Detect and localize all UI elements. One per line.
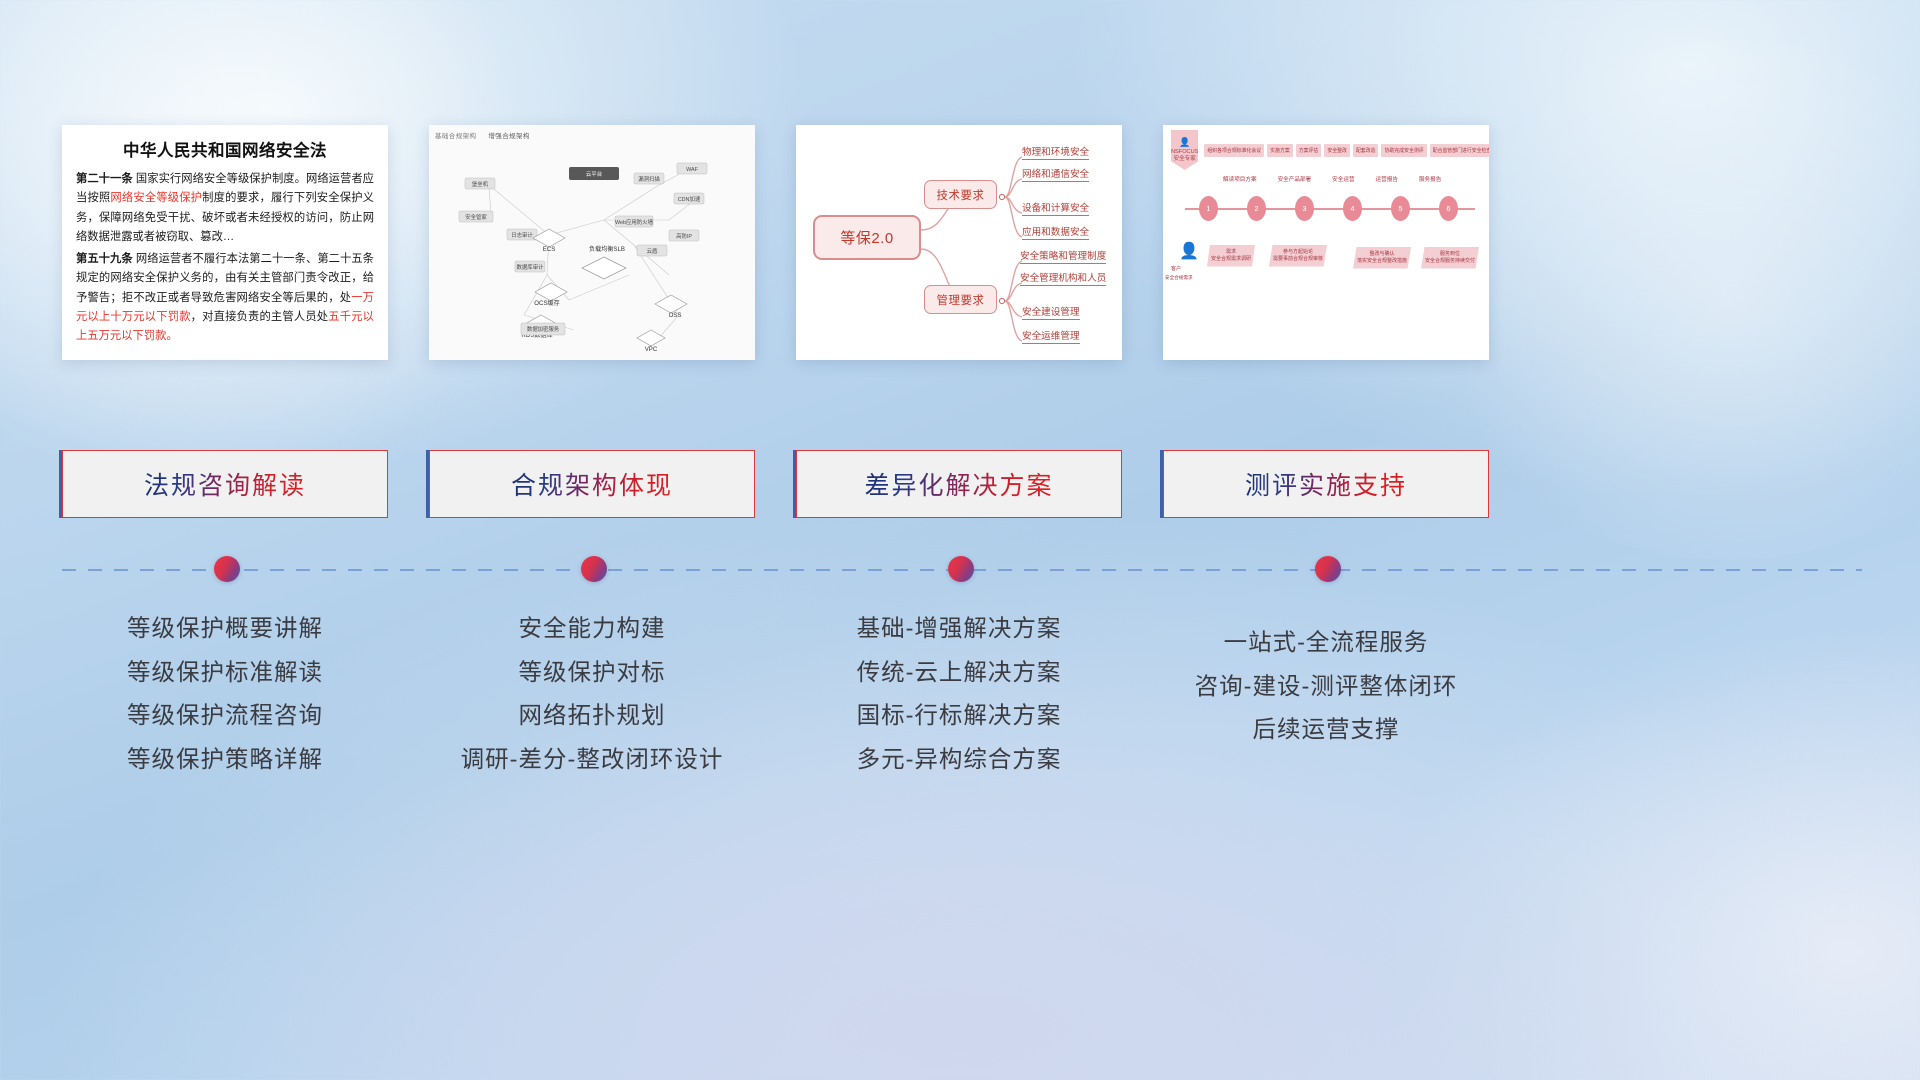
service-footer-pill-sub: 安全合规需求调研 <box>1211 256 1251 263</box>
list-item: 后续运营支撑 <box>1163 709 1489 753</box>
service-step-marker: 6 <box>1439 196 1458 221</box>
detail-list-differentiated-solution: 基础-增强解决方案 传统-云上解决方案 国标-行标解决方案 多元-异构综合方案 <box>796 608 1122 782</box>
list-item: 等级保护对标 <box>429 652 755 696</box>
service-chip: 配合监管部门进行安全检查 <box>1430 144 1489 157</box>
service-chip: 协助完成安全测评 <box>1381 144 1426 157</box>
svg-text:漏洞扫描: 漏洞扫描 <box>638 175 660 183</box>
detail-list-compliance-architecture: 安全能力构建 等级保护对标 网络拓扑规划 调研-差分-整改闭环设计 <box>429 608 755 782</box>
service-stage-label-row: 解读项目方案 安全产品部署 安全运营 运营报告 服务报告 <box>1223 175 1441 183</box>
mindmap-leaf: 安全策略和管理制度 <box>1020 251 1106 264</box>
service-timeline-header: 👤 NSFOCUS 安全专家 组织各项合规标准化会议 实施方案 方案评估 安全整… <box>1163 133 1489 167</box>
service-stage-label: 运营报告 <box>1376 175 1398 183</box>
headline-button-compliance-architecture[interactable]: 合规架构体现 <box>429 450 755 518</box>
nsfocus-expert-badge: 👤 NSFOCUS 安全专家 <box>1171 130 1198 170</box>
person-icon: 👤 <box>1179 136 1190 148</box>
mindmap-root-node: 等保2.0 <box>813 215 921 260</box>
svg-text:数据库审计: 数据库审计 <box>517 263 545 271</box>
mindmap-leaf: 物理和环境安全 <box>1022 147 1089 160</box>
architecture-diagram-svg: 云平台 堡垒机 安全管家 日志审计 <box>429 125 755 360</box>
law-run-highlight: 网络安全等级保护 <box>110 192 202 204</box>
headline-button-regulation-consulting[interactable]: 法规咨询解读 <box>62 450 388 518</box>
headline-button-assessment-support[interactable]: 测评实施支持 <box>1163 450 1489 518</box>
service-footer-pill: 整改与确认 落实安全合规整改措施 <box>1353 247 1411 269</box>
list-item: 安全能力构建 <box>429 608 755 652</box>
timeline-dot-4[interactable] <box>1315 556 1341 582</box>
mindmap-leaf: 设备和计算安全 <box>1022 203 1089 216</box>
law-article-paragraph: 第五十九条 网络运营者不履行本法第二十一条、第二十五条规定的网络安全保护义务的，… <box>76 250 374 347</box>
law-article-paragraph: 第二十一条 国家实行网络安全等级保护制度。网络运营者应当按照网络安全等级保护制度… <box>76 170 374 248</box>
headline-button-differentiated-solution[interactable]: 差异化解决方案 <box>796 450 1122 518</box>
headline-button-label: 差异化解决方案 <box>864 466 1053 502</box>
service-step-marker: 5 <box>1391 196 1410 221</box>
mindmap-leaf: 安全管理机构和人员 <box>1020 273 1106 286</box>
list-item: 等级保护流程咨询 <box>62 695 388 739</box>
preview-card-law-document[interactable]: 中华人民共和国网络安全法 第二十一条 国家实行网络安全等级保护制度。网络运营者应… <box>62 125 388 360</box>
svg-text:数据加密服务: 数据加密服务 <box>527 325 560 333</box>
service-chip: 实施方案 <box>1267 144 1293 157</box>
service-chip: 方案评估 <box>1296 144 1322 157</box>
service-footer-pill-title: 需求 <box>1211 249 1251 256</box>
list-item: 等级保护标准解读 <box>62 652 388 696</box>
mindmap-branch-technical: 技术要求 <box>924 180 997 209</box>
mindmap-branch-management: 管理要求 <box>924 285 997 314</box>
svg-text:高防IP: 高防IP <box>676 232 692 240</box>
customer-person-icon: 👤 <box>1179 241 1199 261</box>
list-item: 传统-云上解决方案 <box>796 652 1122 696</box>
svg-text:OCS缓存: OCS缓存 <box>534 299 559 307</box>
service-chip: 安全整改 <box>1324 144 1350 157</box>
list-item: 咨询-建设-测评整体闭环 <box>1163 666 1489 710</box>
customer-sublabel: 安全合规需求 <box>1165 275 1193 281</box>
list-item: 网络拓扑规划 <box>429 695 755 739</box>
headline-button-label: 合规架构体现 <box>511 466 673 502</box>
law-article-number: 第五十九条 <box>76 253 133 265</box>
detail-list-regulation-consulting: 等级保护概要讲解 等级保护标准解读 等级保护流程咨询 等级保护策略详解 <box>62 608 388 782</box>
service-footer-pill-title: 参与方起始论 <box>1273 249 1323 256</box>
service-step-marker: 4 <box>1343 196 1362 221</box>
service-chip: 配套改造 <box>1353 144 1379 157</box>
detail-list-assessment-support: 一站式-全流程服务 咨询-建设-测评整体闭环 后续运营支撑 <box>1163 608 1489 782</box>
svg-text:堡垒机: 堡垒机 <box>472 180 489 188</box>
svg-text:Web应用防火墙: Web应用防火墙 <box>615 218 654 226</box>
service-step-marker: 3 <box>1295 196 1314 221</box>
service-chip-list: 组织各项合规标准化会议 实施方案 方案评估 安全整改 配套改造 协助完成安全测评… <box>1204 144 1489 157</box>
timeline-dot-3[interactable] <box>948 556 974 582</box>
preview-card-service-timeline[interactable]: 👤 NSFOCUS 安全专家 组织各项合规标准化会议 实施方案 方案评估 安全整… <box>1163 125 1489 360</box>
svg-text:云盾: 云盾 <box>647 248 658 255</box>
service-step-marker: 2 <box>1247 196 1266 221</box>
slide-stage: 中华人民共和国网络安全法 第二十一条 国家实行网络安全等级保护制度。网络运营者应… <box>0 0 1920 1080</box>
headline-button-label: 测评实施支持 <box>1245 466 1407 502</box>
svg-text:OSS: OSS <box>669 312 682 319</box>
service-stage-label: 安全运营 <box>1332 175 1354 183</box>
customer-label: 客户 <box>1171 265 1181 272</box>
svg-text:VPC: VPC <box>645 346 658 353</box>
law-document-title: 中华人民共和国网络安全法 <box>76 137 374 161</box>
service-footer-pill: 需求 安全合规需求调研 <box>1207 245 1255 267</box>
svg-text:CDN加速: CDN加速 <box>678 195 701 203</box>
list-item: 等级保护策略详解 <box>62 739 388 783</box>
service-footer-pill: 服务到位 安全合规服务持续交付 <box>1421 247 1479 269</box>
service-chip: 组织各项合规标准化会议 <box>1204 144 1264 157</box>
mindmap-leaf: 安全运维管理 <box>1022 331 1080 344</box>
detail-list-row: 等级保护概要讲解 等级保护标准解读 等级保护流程咨询 等级保护策略详解 安全能力… <box>62 608 1862 782</box>
service-footer-left: 需求 安全合规需求调研 参与方起始论 需要事前合规合规审核 <box>1207 245 1327 267</box>
list-item: 调研-差分-整改闭环设计 <box>429 739 755 783</box>
list-item: 一站式-全流程服务 <box>1163 622 1489 666</box>
list-item: 等级保护概要讲解 <box>62 608 388 652</box>
svg-text:云平台: 云平台 <box>586 170 602 178</box>
svg-text:安全管家: 安全管家 <box>465 213 487 221</box>
service-footer-pill-sub: 落实安全合规整改措施 <box>1357 258 1407 265</box>
law-run-text: ，对直接负责的主管人员处 <box>191 311 329 323</box>
service-timeline-line <box>1185 208 1475 210</box>
service-stage-label: 安全产品部署 <box>1278 175 1312 183</box>
service-footer-pill-title: 服务到位 <box>1425 251 1475 258</box>
law-article-number: 第二十一条 <box>76 173 133 185</box>
preview-card-cloud-architecture[interactable]: 基础合规架构增强合规架构 云平台 <box>429 125 755 360</box>
list-item: 国标-行标解决方案 <box>796 695 1122 739</box>
svg-text:ECS: ECS <box>543 246 556 253</box>
preview-card-row: 中华人民共和国网络安全法 第二十一条 国家实行网络安全等级保护制度。网络运营者应… <box>62 125 1862 360</box>
timeline-dot-2[interactable] <box>581 556 607 582</box>
service-stage-label: 服务报告 <box>1419 175 1441 183</box>
svg-text:WAF: WAF <box>686 167 698 173</box>
service-footer-pill: 参与方起始论 需要事前合规合规审核 <box>1269 245 1327 267</box>
list-item: 多元-异构综合方案 <box>796 739 1122 783</box>
headline-button-label: 法规咨询解读 <box>144 466 306 502</box>
mindmap-leaf: 网络和通信安全 <box>1022 169 1089 182</box>
nsfocus-badge-label: NSFOCUS 安全专家 <box>1171 149 1198 164</box>
service-footer-pill-sub: 安全合规服务持续交付 <box>1425 258 1475 265</box>
preview-card-mindmap[interactable]: 等保2.0 技术要求 管理要求 物理和环境安全 网络和通信安全 设备和计算安全 … <box>796 125 1122 360</box>
service-stage-label: 解读项目方案 <box>1223 175 1257 183</box>
svg-text:负载均衡SLB: 负载均衡SLB <box>589 245 625 253</box>
headline-button-row: 法规咨询解读 合规架构体现 差异化解决方案 测评实施支持 <box>62 450 1862 518</box>
mindmap-leaf: 应用和数据安全 <box>1022 227 1089 240</box>
timeline-track <box>62 568 1862 572</box>
service-footer-pill-sub: 需要事前合规合规审核 <box>1273 256 1323 263</box>
list-item: 基础-增强解决方案 <box>796 608 1122 652</box>
mindmap-leaf: 安全建设管理 <box>1022 307 1080 320</box>
svg-text:日志审计: 日志审计 <box>511 231 533 239</box>
timeline-dot-1[interactable] <box>214 556 240 582</box>
service-step-marker: 1 <box>1199 196 1218 221</box>
service-footer-pill-title: 整改与确认 <box>1357 251 1407 258</box>
service-footer-right: 整改与确认 落实安全合规整改措施 服务到位 安全合规服务持续交付 <box>1353 247 1479 269</box>
